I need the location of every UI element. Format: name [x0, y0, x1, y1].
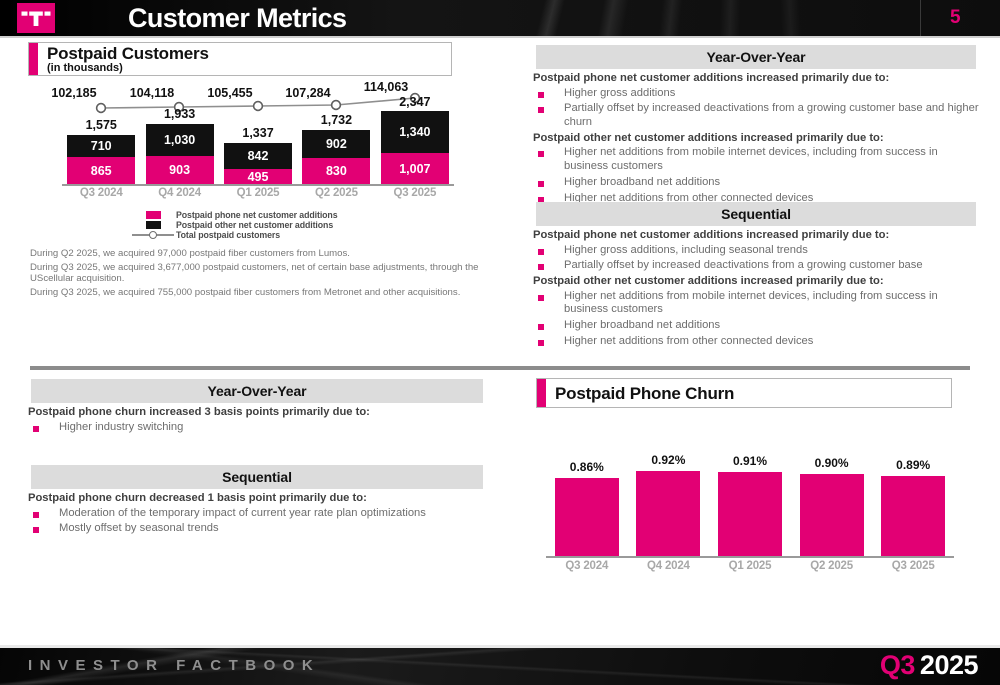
- churn-value-4: 0.89%: [873, 458, 953, 472]
- churn-chart-x-labels: Q3 2024 Q4 2024 Q1 2025 Q2 2025 Q3 2025: [546, 560, 954, 578]
- x-label-2: Q1 2025: [219, 187, 297, 204]
- postpaid-churn-title: Postpaid Phone Churn: [555, 385, 734, 403]
- legend-item-total: Total postpaid customers: [130, 230, 430, 239]
- section-header-churn-sequential: Sequential: [31, 465, 483, 489]
- segment-phone-3: 830: [302, 158, 370, 184]
- bullet-item: Higher gross additions, including season…: [533, 244, 983, 257]
- segment-other-3: 902: [302, 130, 370, 158]
- postpaid-churn-title-box: Postpaid Phone Churn: [536, 378, 952, 408]
- bullet-item: Higher net additions from mobile interne…: [533, 290, 983, 317]
- footer-quarter: Q3: [880, 650, 915, 681]
- bullet-item: Higher industry switching: [28, 421, 490, 434]
- postpaid-customers-legend: Postpaid phone net customer additions Po…: [130, 210, 430, 240]
- churn-x-label-4: Q3 2025: [872, 560, 954, 578]
- churn-value-3: 0.90%: [792, 456, 872, 470]
- section-header-customers-yoy: Year-Over-Year: [536, 45, 976, 69]
- legend-swatch-black-icon: [130, 220, 176, 229]
- postpaid-customers-title: Postpaid Customers: [47, 45, 209, 63]
- bullet-item: Partially offset by increased deactivati…: [533, 102, 983, 129]
- stacked-bar-4: 1,340 1,007: [381, 111, 449, 184]
- legend-item-other: Postpaid other net customer additions: [130, 220, 430, 229]
- segment-other-0: 710: [67, 135, 135, 157]
- churn-x-label-2: Q1 2025: [709, 560, 791, 578]
- page-title: Customer Metrics: [128, 1, 346, 35]
- section-divider: [30, 366, 970, 370]
- legend-line-marker-icon: [130, 230, 176, 239]
- footnote-2: During Q3 2025, we acquired 755,000 post…: [30, 287, 490, 298]
- footnote-0: During Q2 2025, we acquired 97,000 postp…: [30, 248, 490, 259]
- postpaid-customers-subtitle: (in thousands): [47, 62, 209, 74]
- title-text-group: Postpaid Phone Churn: [546, 379, 734, 407]
- x-label-3: Q2 2025: [297, 187, 375, 204]
- bullet-item: Higher net additions from other connecte…: [533, 335, 983, 348]
- bullets-customers-yoy-1: Higher net additions from mobile interne…: [533, 146, 983, 205]
- stacked-chart-x-axis: [62, 184, 454, 186]
- page-number: 5: [950, 0, 990, 36]
- segment-phone-0: 865: [67, 157, 135, 184]
- churn-column-q4-2024: 0.92%: [628, 452, 710, 556]
- textblock-customers-sequential: Postpaid phone net customer additions in…: [533, 229, 983, 351]
- slide-header: Customer Metrics 5: [0, 0, 1000, 36]
- bullet-item: Mostly offset by seasonal trends: [28, 522, 490, 535]
- title-accent-bar: [537, 379, 546, 407]
- churn-bar-3: [800, 474, 864, 556]
- churn-value-2: 0.91%: [710, 454, 790, 468]
- bullets-customers-seq-1: Higher net additions from mobile interne…: [533, 290, 983, 349]
- t-mobile-logo-icon: [17, 3, 55, 33]
- postpaid-customers-chart: 102,185 104,118 105,455 107,284 114,063 …: [30, 86, 460, 204]
- bullet-item: Higher net additions from mobile interne…: [533, 146, 983, 173]
- bullet-item: Higher broadband net additions: [533, 176, 983, 189]
- segment-phone-2: 495: [224, 169, 292, 184]
- textblock-churn-sequential: Postpaid phone churn decreased 1 basis p…: [28, 492, 490, 538]
- section-header-churn-yoy: Year-Over-Year: [31, 379, 483, 403]
- churn-x-label-1: Q4 2024: [628, 560, 710, 578]
- lead-customers-seq-0: Postpaid phone net customer additions in…: [533, 229, 983, 242]
- bar-column-q3-2025: 2,347 1,340 1,007: [376, 86, 454, 184]
- churn-x-label-3: Q2 2025: [791, 560, 873, 578]
- postpaid-customers-title-box: Postpaid Customers (in thousands): [28, 42, 452, 76]
- churn-column-q1-2025: 0.91%: [709, 452, 791, 556]
- lead-churn-seq-0: Postpaid phone churn decreased 1 basis p…: [28, 492, 490, 505]
- legend-swatch-magenta-icon: [130, 210, 176, 219]
- stacked-bars-group: 1,575 710 865 1,933 1,030 903 1,337 842 …: [62, 86, 454, 184]
- churn-bar-2: [718, 472, 782, 556]
- segment-phone-1: 903: [146, 156, 214, 184]
- postpaid-phone-churn-chart: 0.86% 0.92% 0.91% 0.90% 0.89% Q3 2: [540, 440, 960, 580]
- stacked-bar-2: 842 495: [224, 143, 292, 184]
- bullet-item: Partially offset by increased deactivati…: [533, 259, 983, 272]
- bullet-item: Higher broadband net additions: [533, 319, 983, 332]
- lead-churn-yoy-0: Postpaid phone churn increased 3 basis p…: [28, 406, 490, 419]
- slide-root: Customer Metrics 5 Postpaid Customers (i…: [0, 0, 1000, 685]
- postpaid-customers-footnotes: During Q2 2025, we acquired 97,000 postp…: [30, 248, 490, 301]
- x-label-0: Q3 2024: [62, 187, 140, 204]
- bullet-item: Moderation of the temporary impact of cu…: [28, 507, 490, 520]
- x-label-1: Q4 2024: [140, 187, 218, 204]
- segment-other-4: 1,340: [381, 111, 449, 153]
- stack-total-4: 2,347: [360, 95, 470, 109]
- stacked-chart-x-labels: Q3 2024 Q4 2024 Q1 2025 Q2 2025 Q3 2025: [62, 187, 454, 204]
- churn-bars-group: 0.86% 0.92% 0.91% 0.90% 0.89%: [546, 452, 954, 556]
- segment-other-2: 842: [224, 143, 292, 169]
- bullets-churn-seq-0: Moderation of the temporary impact of cu…: [28, 507, 490, 536]
- bullets-customers-seq-0: Higher gross additions, including season…: [533, 244, 983, 273]
- header-underline: [0, 36, 1000, 38]
- churn-x-label-0: Q3 2024: [546, 560, 628, 578]
- churn-value-0: 0.86%: [547, 460, 627, 474]
- churn-column-q3-2024: 0.86%: [546, 452, 628, 556]
- title-text-group: Postpaid Customers (in thousands): [38, 43, 209, 75]
- stacked-bar-3: 902 830: [302, 130, 370, 184]
- churn-bar-1: [636, 471, 700, 556]
- lead-customers-yoy-1: Postpaid other net customer additions in…: [533, 132, 983, 145]
- churn-bar-4: [881, 476, 945, 556]
- legend-label-other: Postpaid other net customer additions: [176, 220, 333, 230]
- legend-item-phone: Postpaid phone net customer additions: [130, 210, 430, 219]
- bullets-customers-yoy-0: Higher gross additions Partially offset …: [533, 87, 983, 130]
- segment-phone-4: 1,007: [381, 153, 449, 184]
- churn-column-q2-2025: 0.90%: [791, 452, 873, 556]
- textblock-customers-yoy: Postpaid phone net customer additions in…: [533, 72, 983, 208]
- bullet-item: Higher gross additions: [533, 87, 983, 100]
- bar-column-q3-2024: 1,575 710 865: [62, 86, 140, 184]
- legend-label-total: Total postpaid customers: [176, 230, 280, 240]
- footer-label: INVESTOR FACTBOOK: [28, 645, 320, 685]
- title-accent-bar: [29, 43, 38, 75]
- churn-column-q3-2025: 0.89%: [872, 452, 954, 556]
- churn-bar-0: [555, 478, 619, 556]
- legend-label-phone: Postpaid phone net customer additions: [176, 210, 338, 220]
- lead-customers-seq-1: Postpaid other net customer additions in…: [533, 275, 983, 288]
- churn-value-1: 0.92%: [628, 453, 708, 467]
- x-label-4: Q3 2025: [376, 187, 454, 204]
- bullets-churn-yoy-0: Higher industry switching: [28, 421, 490, 434]
- header-divider: [920, 0, 921, 36]
- textblock-churn-yoy: Postpaid phone churn increased 3 basis p…: [28, 406, 490, 436]
- footnote-1: During Q3 2025, we acquired 3,677,000 po…: [30, 262, 490, 285]
- footer-period: Q3 2025: [880, 645, 978, 685]
- section-header-customers-sequential: Sequential: [536, 202, 976, 226]
- churn-chart-x-axis: [546, 556, 954, 558]
- lead-customers-yoy-0: Postpaid phone net customer additions in…: [533, 72, 983, 85]
- stacked-bar-0: 710 865: [67, 135, 135, 184]
- bar-column-q1-2025: 1,337 842 495: [219, 86, 297, 184]
- footer-year: 2025: [920, 650, 978, 681]
